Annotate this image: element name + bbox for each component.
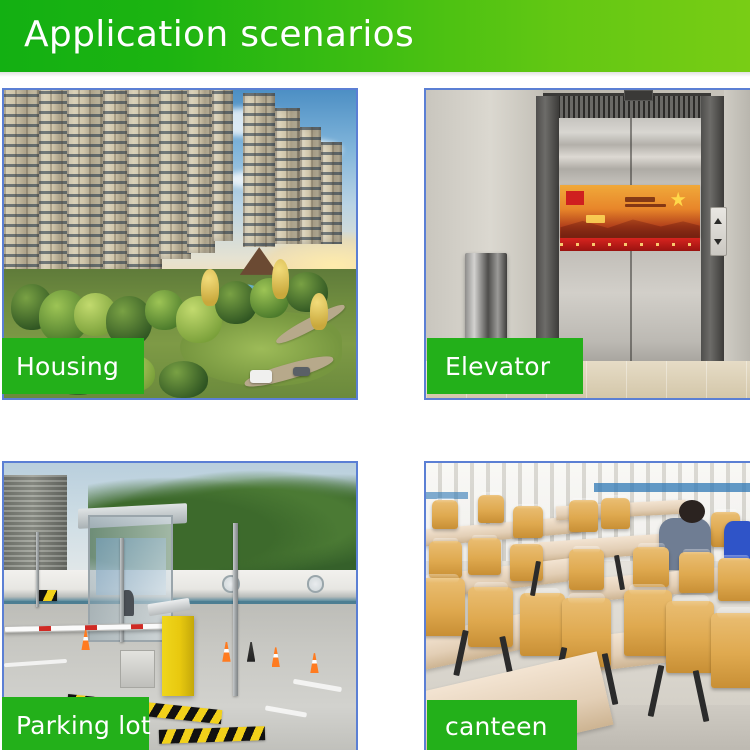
star-icon <box>671 192 686 208</box>
scenario-card-elevator[interactable]: Elevator <box>424 88 750 400</box>
poster-text <box>625 204 667 207</box>
car <box>250 370 271 382</box>
down-arrow-icon[interactable] <box>714 239 722 245</box>
apartment-tower <box>212 90 233 241</box>
person-head <box>679 500 705 523</box>
card-label-parking-lot: Parking lot <box>2 697 149 750</box>
gate-post <box>233 523 239 696</box>
chair <box>569 549 605 589</box>
wall-logo <box>307 575 325 592</box>
card-label-housing: Housing <box>2 338 144 394</box>
tree-gold <box>201 269 219 306</box>
chair <box>569 500 598 532</box>
card-label-text: canteen <box>445 712 548 741</box>
chair <box>429 541 461 578</box>
advertisement-poster <box>560 185 699 237</box>
chair <box>478 495 504 524</box>
tree-gold <box>310 293 328 330</box>
scenario-card-parking[interactable]: Parking lot <box>2 461 358 750</box>
application-scenarios-page: Application scenarios <box>0 0 750 750</box>
card-label-text: Parking lot <box>16 711 151 740</box>
chair <box>468 587 513 647</box>
card-label-canteen: canteen <box>427 700 577 750</box>
scenario-card-canteen[interactable]: canteen <box>424 461 750 750</box>
card-label-text: Housing <box>16 352 119 381</box>
apartment-tower <box>159 90 191 259</box>
chair <box>666 601 715 673</box>
chair <box>513 506 542 538</box>
floor-indicator <box>624 90 653 101</box>
chair <box>633 547 669 587</box>
door-jamb-left <box>536 96 559 361</box>
page-header-banner: Application scenarios <box>0 0 750 72</box>
chair <box>520 593 565 656</box>
apartment-tower <box>127 90 162 269</box>
car <box>293 367 311 376</box>
wall-stripe <box>594 483 750 492</box>
poster-bottom-band <box>560 238 699 251</box>
poster-number <box>586 215 606 223</box>
chair <box>718 558 750 601</box>
barrier-gate-housing <box>162 616 194 697</box>
apartment-tower <box>39 90 71 284</box>
scenario-card-housing[interactable]: Housing <box>2 88 358 400</box>
apartment-tower <box>321 142 342 244</box>
call-button-panel[interactable] <box>710 207 728 256</box>
poster-text <box>625 197 656 202</box>
guard-booth-window <box>96 538 166 596</box>
poster-mountain-art <box>560 214 699 238</box>
striped-curb <box>39 590 57 602</box>
scenario-card-grid: Housing <box>0 77 750 750</box>
card-label-elevator: Elevator <box>427 338 583 394</box>
chair <box>601 498 630 530</box>
up-arrow-icon[interactable] <box>714 218 722 224</box>
apartment-tower <box>243 93 275 247</box>
air-conditioner-unit <box>120 650 155 687</box>
tree-gold <box>272 259 290 299</box>
page-title: Application scenarios <box>24 11 414 59</box>
lobby-wall-right <box>724 90 750 361</box>
chair <box>679 552 715 592</box>
flag-graphic <box>566 191 584 206</box>
chair <box>711 613 750 688</box>
apartment-tower <box>67 90 106 281</box>
chair <box>426 578 465 636</box>
tree <box>159 361 208 398</box>
card-label-text: Elevator <box>445 352 550 381</box>
chair <box>432 500 458 529</box>
chair <box>624 590 673 656</box>
chair <box>468 538 500 575</box>
apartment-tower <box>300 127 321 244</box>
apartment-tower <box>275 108 300 244</box>
